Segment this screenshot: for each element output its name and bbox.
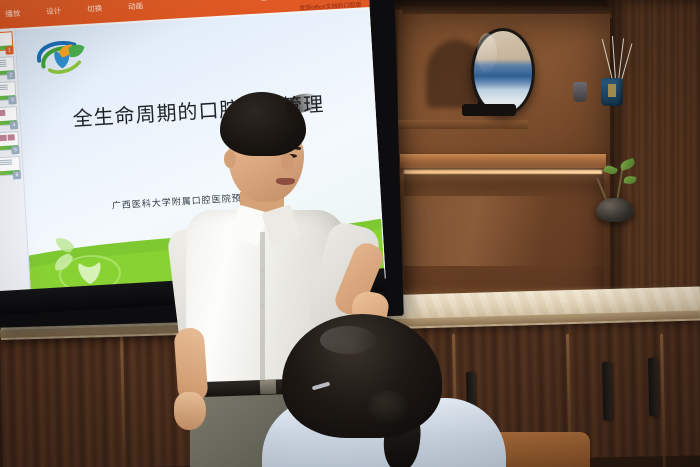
copper-panel-sheen: [404, 196, 604, 266]
oral-health-logo: [34, 36, 90, 79]
list-item[interactable]: 6: [0, 156, 21, 177]
slide-number: 1: [5, 46, 13, 54]
shirt-button: [260, 304, 264, 308]
thumb-text-lines: [0, 85, 8, 92]
tab-transitions[interactable]: 切换: [87, 3, 103, 15]
presenter-ear: [224, 150, 236, 168]
tab-animations[interactable]: 动画: [128, 0, 144, 12]
upper-shelf: [398, 120, 528, 129]
slide-number: 2: [7, 71, 15, 79]
small-cup: [573, 82, 587, 102]
list-item[interactable]: 4: [0, 106, 18, 127]
slide-number: 5: [11, 146, 19, 154]
presenter-hair-tuft: [284, 90, 321, 116]
list-item[interactable]: 1: [0, 31, 14, 52]
thumb-text-lines: [0, 60, 7, 69]
slide-number: 3: [8, 96, 16, 104]
list-item[interactable]: 3: [0, 81, 16, 102]
cabinet-handle[interactable]: [648, 358, 658, 416]
slide-number: 6: [13, 171, 21, 179]
oval-sand-art-base: [462, 104, 516, 116]
display-shelf: [400, 154, 606, 168]
bonsai-vase: [596, 198, 634, 222]
oval-sand-art-gloss: [477, 33, 497, 73]
presenter-shirt-placket: [260, 232, 265, 392]
audience-hair-sheen: [320, 326, 376, 354]
audience-member: [272, 320, 502, 467]
presenter-mouth: [276, 178, 295, 185]
diffuser-label: [608, 84, 616, 97]
scene-photo: 全生命周期的口腔健康... 播放 设计 切换 动画 ▢ ↶ ↷ ⟳ ▤: [0, 0, 700, 467]
thumb-text-lines: [0, 159, 12, 166]
presenter-left-hand: [174, 392, 206, 430]
tab-play[interactable]: 播放: [5, 8, 21, 20]
list-item[interactable]: 2: [0, 56, 15, 77]
shirt-button: [260, 340, 264, 344]
slide-number: 4: [10, 121, 18, 129]
tab-design[interactable]: 设计: [46, 5, 62, 17]
thumb-images: [0, 134, 15, 141]
audience-hair-tie: [368, 390, 408, 422]
shirt-button: [260, 268, 264, 272]
thumb-images: [0, 110, 5, 117]
list-item[interactable]: 5: [0, 131, 19, 152]
document-title: 全生命周期的口腔健康...: [0, 0, 62, 4]
cabinet-handle[interactable]: [602, 362, 612, 420]
screen-icon[interactable]: ▢: [260, 0, 269, 1]
